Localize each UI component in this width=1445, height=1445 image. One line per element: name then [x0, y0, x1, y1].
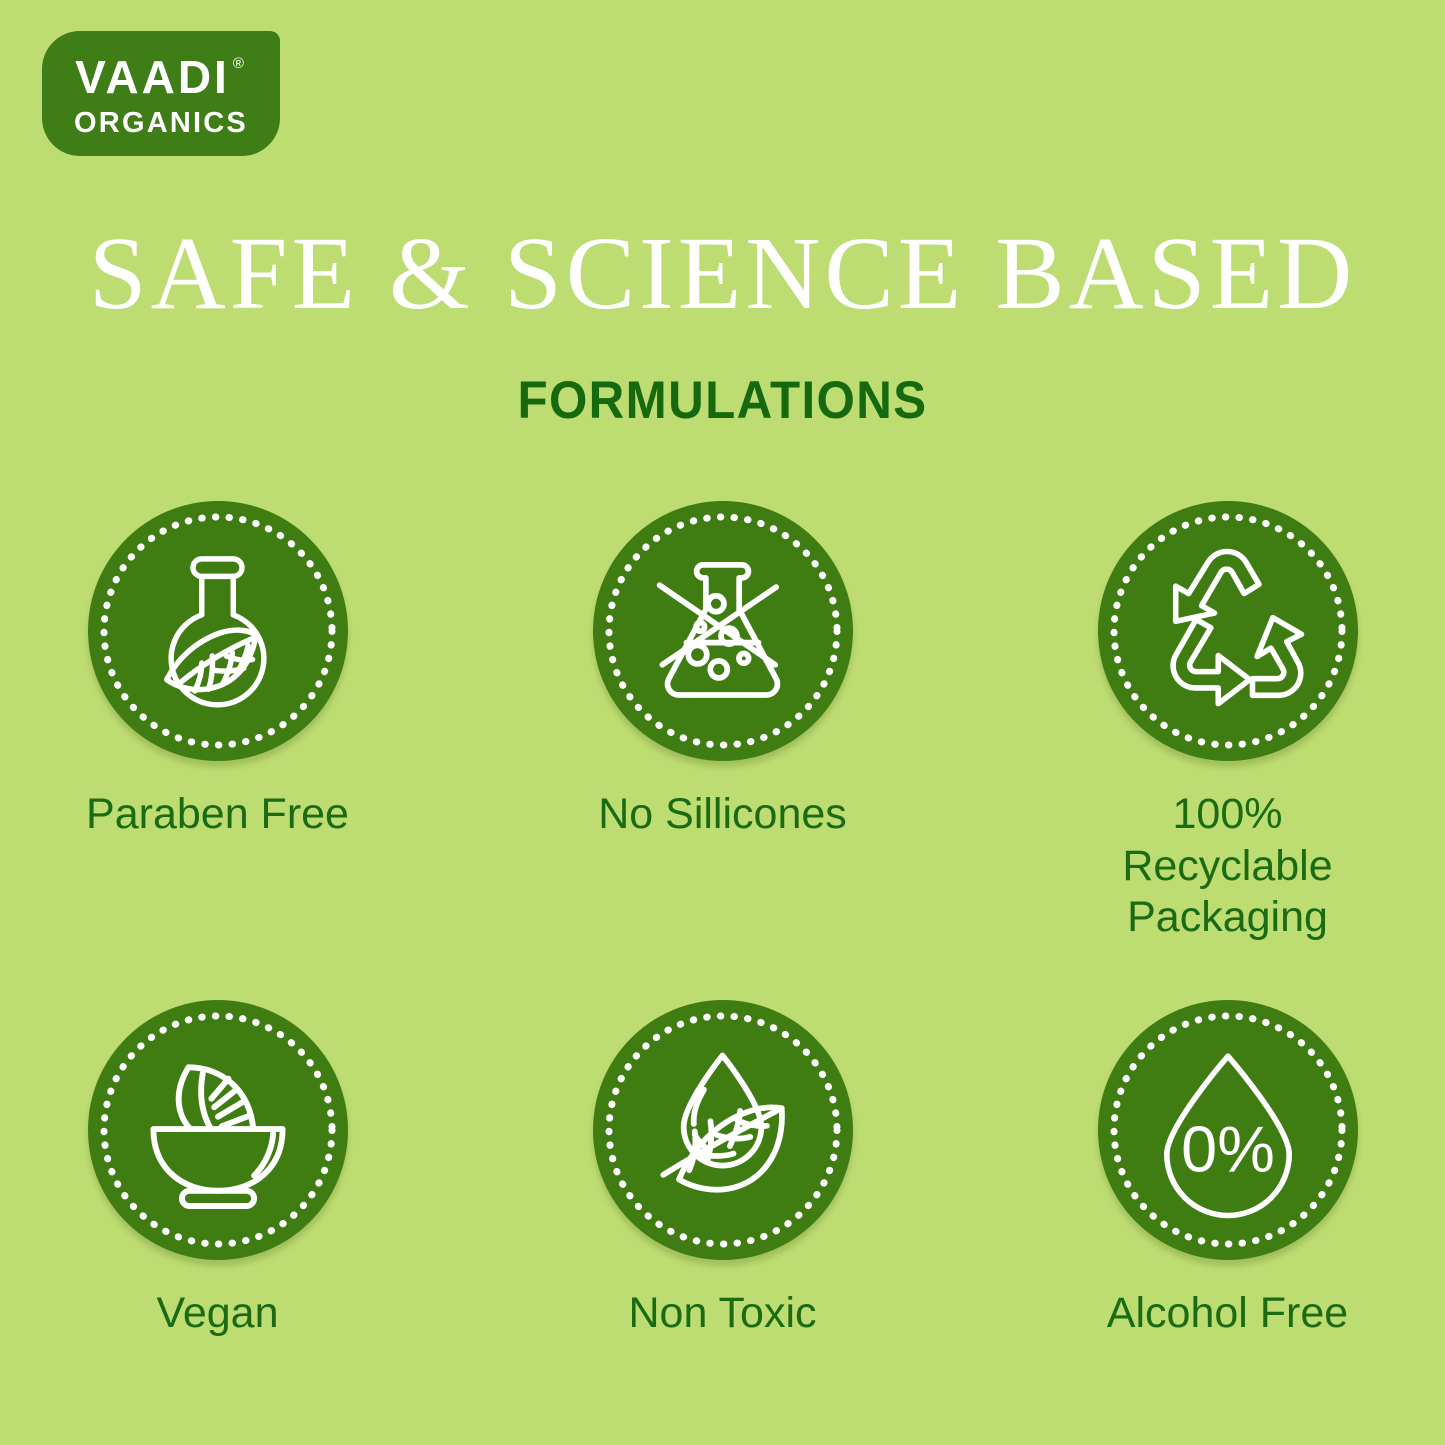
badge-wrapper	[82, 994, 354, 1266]
brand-logo: VAADI ® ORGANICS	[42, 31, 280, 156]
zero-percent-label: 0%	[1181, 1112, 1275, 1185]
badge-wrapper: 0%	[1092, 994, 1364, 1266]
droplet-leaf-icon	[630, 1037, 815, 1222]
feature-item-alcohol-free: 0% Alcohol Free	[1063, 994, 1393, 1340]
brand-subtitle: ORGANICS	[74, 109, 248, 138]
page-subtitle: FORMULATIONS	[51, 374, 1395, 427]
feature-badge	[593, 1000, 853, 1260]
feature-grid: Paraben Free	[0, 495, 1445, 1339]
brand-name-row: VAADI ®	[75, 54, 247, 100]
feature-item-no-sillicones: No Sillicones	[558, 495, 888, 944]
feature-item-paraben-free: Paraben Free	[53, 495, 383, 944]
feature-label: Alcohol Free	[1107, 1288, 1348, 1340]
feature-row-1: Paraben Free	[0, 495, 1445, 944]
marketing-infographic: { "brand": { "name": "VAADI", "registere…	[0, 0, 1445, 1445]
feature-label: Paraben Free	[86, 789, 349, 841]
badge-wrapper	[587, 495, 859, 767]
droplet-zero-percent-icon: 0%	[1138, 1040, 1318, 1220]
page-title: SAFE & SCIENCE BASED	[0, 222, 1445, 326]
feature-badge	[593, 501, 853, 761]
crossed-out-flask-icon	[630, 539, 815, 724]
registered-trademark-icon: ®	[233, 56, 247, 71]
feature-label: No Sillicones	[598, 789, 847, 841]
feature-label: 100% Recyclable Packaging	[1063, 789, 1393, 944]
feature-label: Non Toxic	[628, 1288, 816, 1340]
badge-wrapper	[82, 495, 354, 767]
badge-wrapper	[587, 994, 859, 1266]
feature-badge	[88, 501, 348, 761]
feature-item-vegan: Vegan	[53, 994, 383, 1340]
feature-label: Vegan	[157, 1288, 279, 1340]
brand-name: VAADI	[75, 54, 230, 100]
feature-item-recyclable-packaging: 100% Recyclable Packaging	[1063, 495, 1393, 944]
feature-row-2: Vegan	[0, 994, 1445, 1340]
recycle-icon	[1135, 539, 1320, 724]
feature-badge	[88, 1000, 348, 1260]
flask-leaf-icon	[130, 544, 305, 719]
feature-badge: 0%	[1098, 1000, 1358, 1260]
badge-wrapper	[1092, 495, 1364, 767]
feature-item-non-toxic: Non Toxic	[558, 994, 888, 1340]
bowl-leaf-icon	[123, 1035, 313, 1225]
feature-badge	[1098, 501, 1358, 761]
